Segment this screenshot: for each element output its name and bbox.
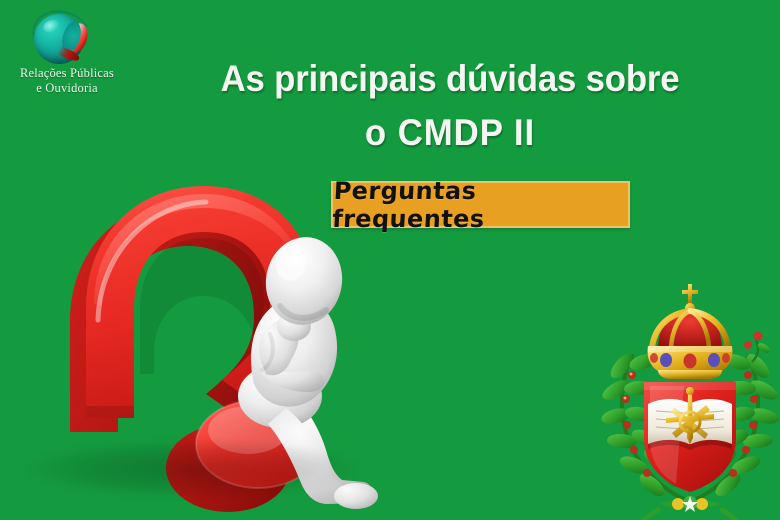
page-title: As principais dúvidas sobre o CMDP II: [168, 52, 732, 160]
headline-line-1: As principais dúvidas sobre: [221, 58, 680, 99]
crown-icon: [648, 284, 733, 379]
illustration-ground-shadow: [28, 440, 358, 498]
promo-graphic-canvas: Relações Públicas e Ouvidoria As princip…: [0, 0, 780, 520]
relacoes-publicas-logo: Relações Públicas e Ouvidoria: [8, 8, 126, 104]
logo-sphere-icon: [32, 10, 94, 66]
question-mark-illustration: [8, 158, 408, 518]
logo-wordmark: Relações Públicas e Ouvidoria: [8, 66, 126, 96]
cmdp-coat-of-arms: [598, 278, 780, 520]
logo-line-2: e Ouvidoria: [8, 81, 126, 96]
headline-line-2: o CMDP II: [168, 106, 732, 160]
coat-of-arms-svg: [598, 278, 780, 520]
ribbon-tie-icon: [636, 496, 744, 520]
logo-line-1: Relações Públicas: [20, 66, 114, 80]
shield-icon: [644, 382, 736, 492]
